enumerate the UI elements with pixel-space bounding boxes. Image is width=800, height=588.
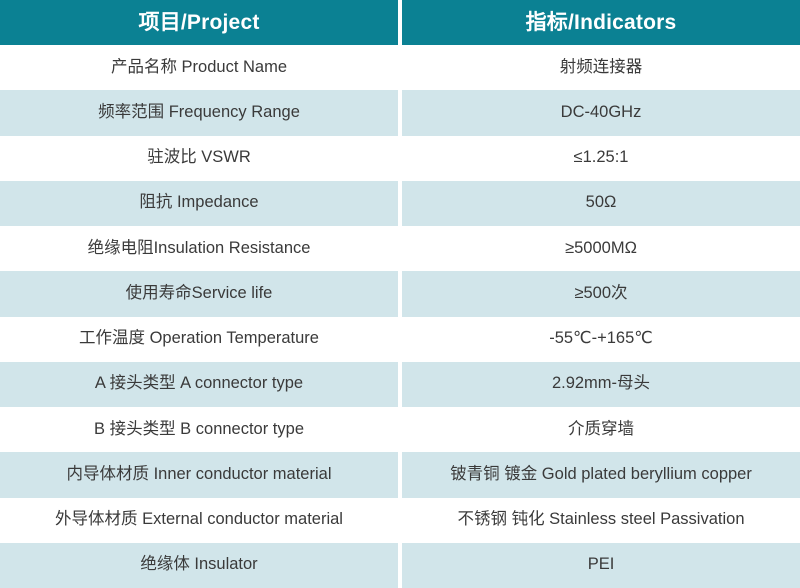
table-row: A 接头类型 A connector type 2.92mm-母头: [0, 362, 800, 407]
row-project-label: 驻波比 VSWR: [0, 136, 398, 181]
row-indicator-value: PEI: [402, 543, 800, 588]
specification-table: 项目/Project 指标/Indicators 产品名称 Product Na…: [0, 0, 800, 588]
table-row: 工作温度 Operation Temperature -55℃-+165℃: [0, 317, 800, 362]
table-row: 阻抗 Impedance 50Ω: [0, 181, 800, 226]
row-indicator-value: ≥500次: [402, 271, 800, 316]
row-project-label: 产品名称 Product Name: [0, 45, 398, 90]
row-indicator-value: -55℃-+165℃: [402, 317, 800, 362]
table-row: 内导体材质 Inner conductor material 铍青铜 镀金 Go…: [0, 452, 800, 497]
table-row: 产品名称 Product Name 射频连接器: [0, 45, 800, 90]
row-project-label: 工作温度 Operation Temperature: [0, 317, 398, 362]
table-row: 驻波比 VSWR ≤1.25:1: [0, 136, 800, 181]
row-indicator-value: 介质穿墙: [402, 407, 800, 452]
row-indicator-value: ≥5000MΩ: [402, 226, 800, 271]
row-indicator-value: 不锈钢 钝化 Stainless steel Passivation: [402, 498, 800, 543]
table-header-row: 项目/Project 指标/Indicators: [0, 0, 800, 45]
row-project-label: 频率范围 Frequency Range: [0, 90, 398, 135]
column-header-project: 项目/Project: [0, 0, 398, 45]
row-project-label: B 接头类型 B connector type: [0, 407, 398, 452]
row-indicator-value: DC-40GHz: [402, 90, 800, 135]
row-project-label: 使用寿命Service life: [0, 271, 398, 316]
table-row: 外导体材质 External conductor material 不锈钢 钝化…: [0, 498, 800, 543]
row-project-label: 外导体材质 External conductor material: [0, 498, 398, 543]
row-project-label: 绝缘体 Insulator: [0, 543, 398, 588]
row-indicator-value: 射频连接器: [402, 45, 800, 90]
row-indicator-value: 50Ω: [402, 181, 800, 226]
table-row: 绝缘体 Insulator PEI: [0, 543, 800, 588]
row-indicator-value: 2.92mm-母头: [402, 362, 800, 407]
row-project-label: 阻抗 Impedance: [0, 181, 398, 226]
table-row: 频率范围 Frequency Range DC-40GHz: [0, 90, 800, 135]
table-row: 使用寿命Service life ≥500次: [0, 271, 800, 316]
table-row: 绝缘电阻Insulation Resistance ≥5000MΩ: [0, 226, 800, 271]
row-project-label: 绝缘电阻Insulation Resistance: [0, 226, 398, 271]
row-indicator-value: 铍青铜 镀金 Gold plated beryllium copper: [402, 452, 800, 497]
column-header-indicators: 指标/Indicators: [402, 0, 800, 45]
row-indicator-value: ≤1.25:1: [402, 136, 800, 181]
row-project-label: 内导体材质 Inner conductor material: [0, 452, 398, 497]
row-project-label: A 接头类型 A connector type: [0, 362, 398, 407]
table-row: B 接头类型 B connector type 介质穿墙: [0, 407, 800, 452]
